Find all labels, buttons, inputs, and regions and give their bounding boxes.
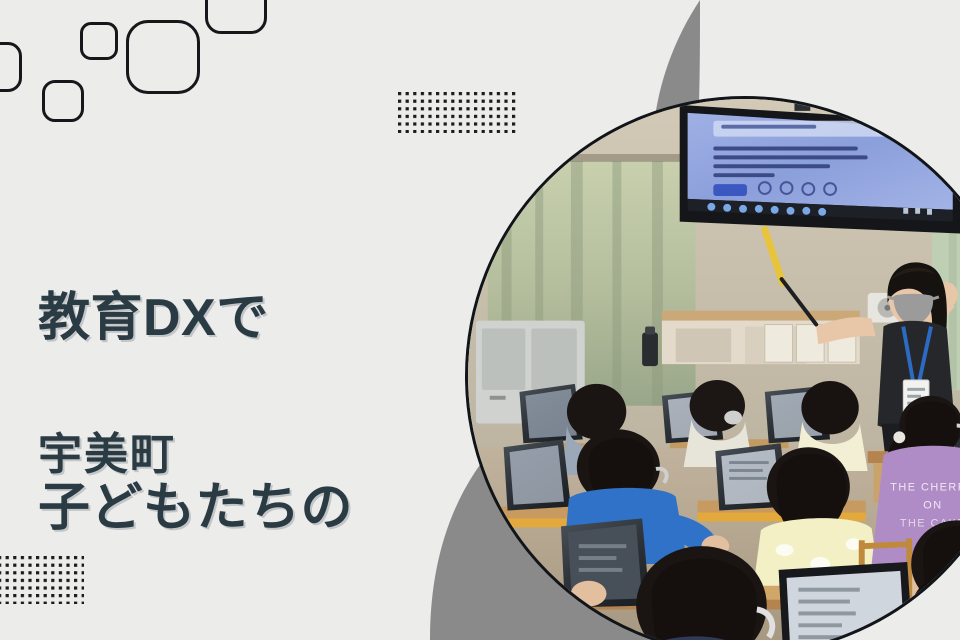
dot-grid-top [398,92,518,136]
laptop-mid-left [504,439,571,510]
rounded-square-medium [42,80,84,122]
rounded-square-small [80,22,118,60]
rounded-square-large [126,20,200,94]
shirt-text-line-1: THE CHERRY [890,482,960,494]
headline-line-2: 子どもたちの [38,477,406,540]
municipality-name: 宇美町 [38,418,176,482]
rounded-square-left-cut [0,42,22,92]
page-title: 教育DXで 子どもたちの 未来をつくろう [38,160,406,640]
shirt-text-line-2: ON [923,500,942,512]
headline-line-1: 教育DXで [38,287,406,350]
laptop-front-left [561,518,650,607]
promo-banner: 教育DXで 子どもたちの 未来をつくろう 宇美町 [0,0,960,640]
rounded-square-top-cut [205,0,267,34]
